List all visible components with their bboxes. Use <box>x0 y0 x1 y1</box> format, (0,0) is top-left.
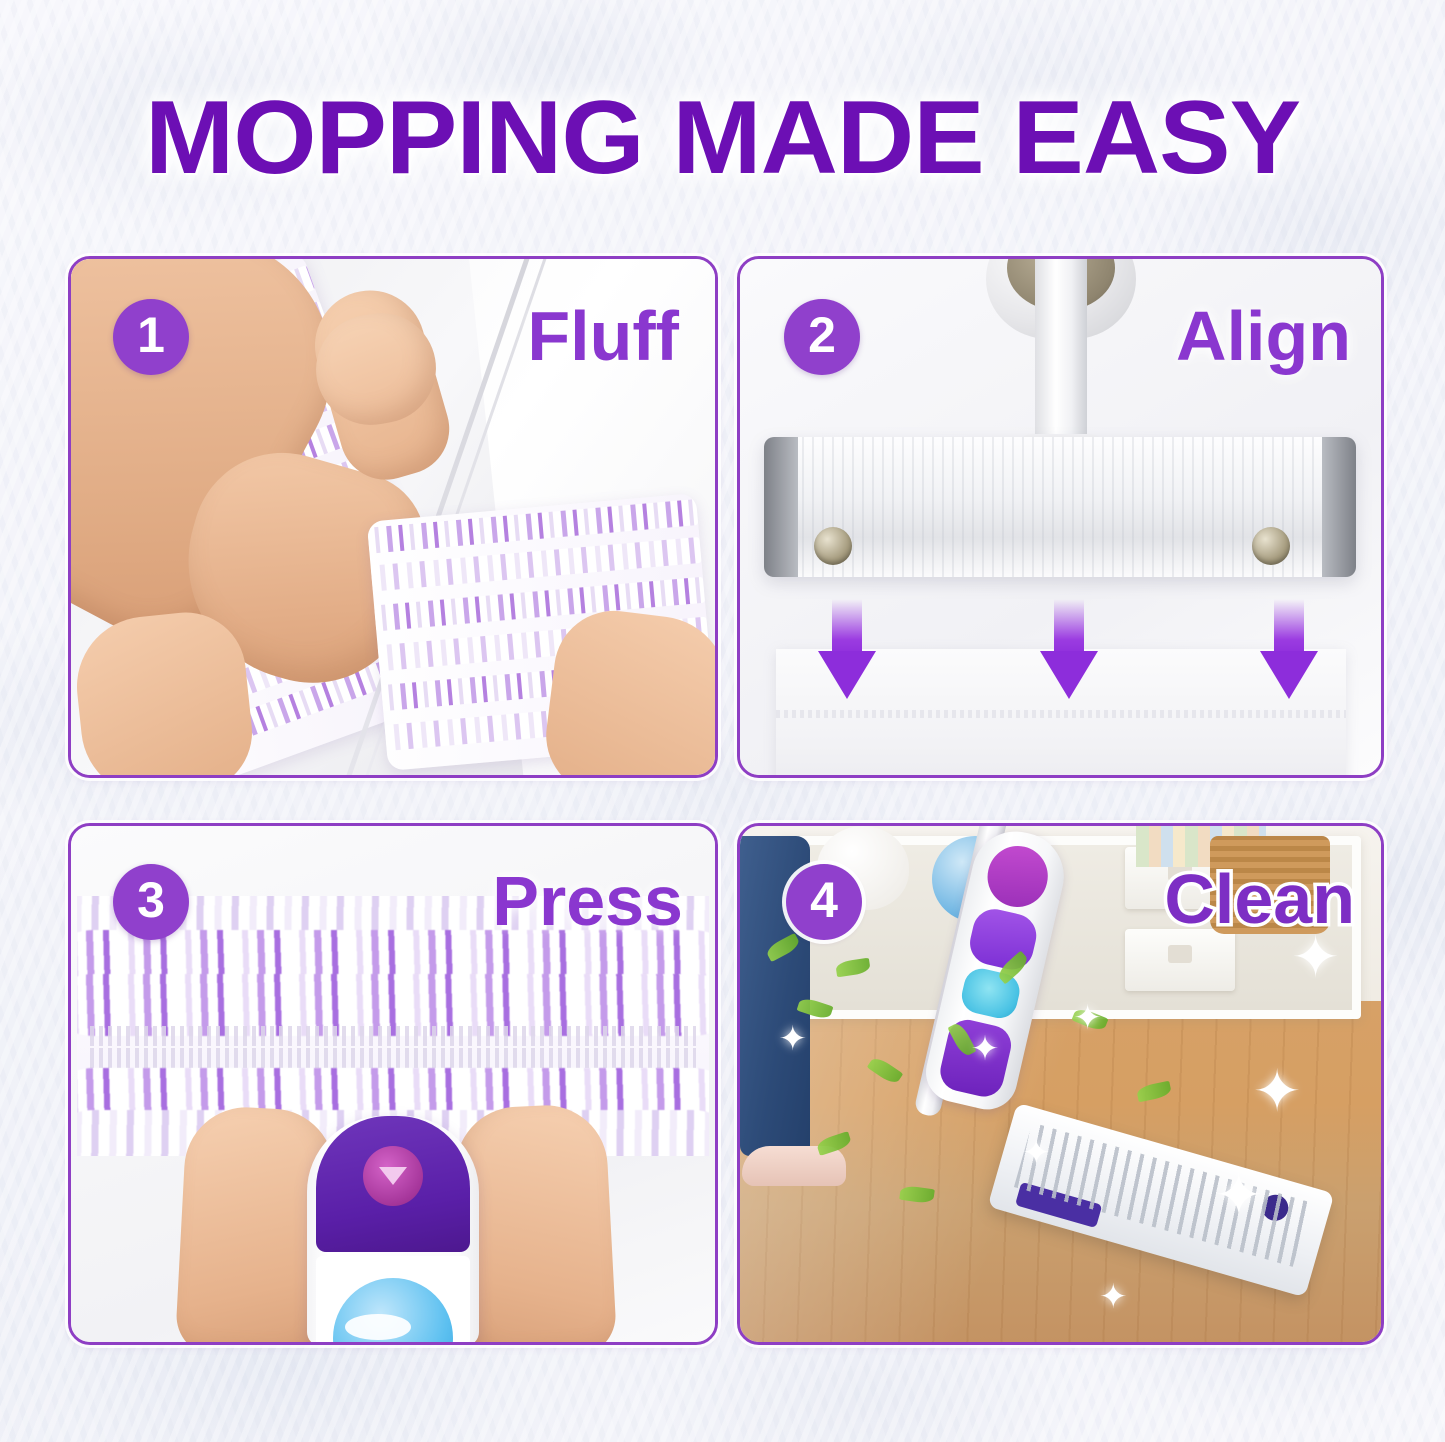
spray-button <box>363 1146 423 1206</box>
step-1-badge: 1 <box>113 299 189 375</box>
step-panel-2: 2 Align <box>737 256 1384 778</box>
step-panel-1: 1 Fluff <box>68 256 718 778</box>
mop-pole <box>1035 259 1087 449</box>
sparkle-4: ✦ <box>1253 1063 1302 1121</box>
sparkle-8: ✦ <box>1099 1280 1128 1314</box>
step-2-label: Align <box>1176 301 1351 371</box>
sparkle-7: ✦ <box>1022 1136 1051 1170</box>
step-3-badge: 3 <box>113 864 189 940</box>
sparkle-6: ✦ <box>778 1022 807 1056</box>
grommet-left <box>814 527 852 565</box>
grommet-right <box>1252 527 1290 565</box>
down-arrow-2 <box>1040 599 1098 699</box>
mop-head-cap-right <box>1322 437 1356 577</box>
page-title: MOPPING MADE EASY <box>0 86 1445 190</box>
sparkle-5: ✦ <box>1214 1167 1263 1225</box>
step-1-label: Fluff <box>527 301 679 371</box>
down-arrow-3 <box>1260 599 1318 699</box>
mop-head-cap-left <box>764 437 798 577</box>
infographic-canvas: MOPPING MADE EASY <box>0 0 1445 1442</box>
bottle-label <box>316 1256 470 1342</box>
step-4-badge: 4 <box>786 864 862 940</box>
sparkle-3: ✦ <box>971 1032 1000 1066</box>
mop-handle-body <box>307 1116 479 1342</box>
sky-globe-graphic <box>333 1278 453 1342</box>
handle-purple-top <box>316 1116 470 1252</box>
sparkle-2: ✦ <box>1073 1001 1102 1035</box>
step-2-badge: 2 <box>784 299 860 375</box>
down-arrow-1 <box>818 599 876 699</box>
step-panel-3: 3 Press <box>68 823 718 1345</box>
step-3-label: Press <box>492 866 683 936</box>
step-4-label: Clean <box>1164 864 1355 934</box>
step-panel-4: ✦ ✦ ✦ ✦ ✦ ✦ ✦ ✦ 4 Clean <box>737 823 1384 1345</box>
storage-box-bottom <box>1125 929 1235 991</box>
